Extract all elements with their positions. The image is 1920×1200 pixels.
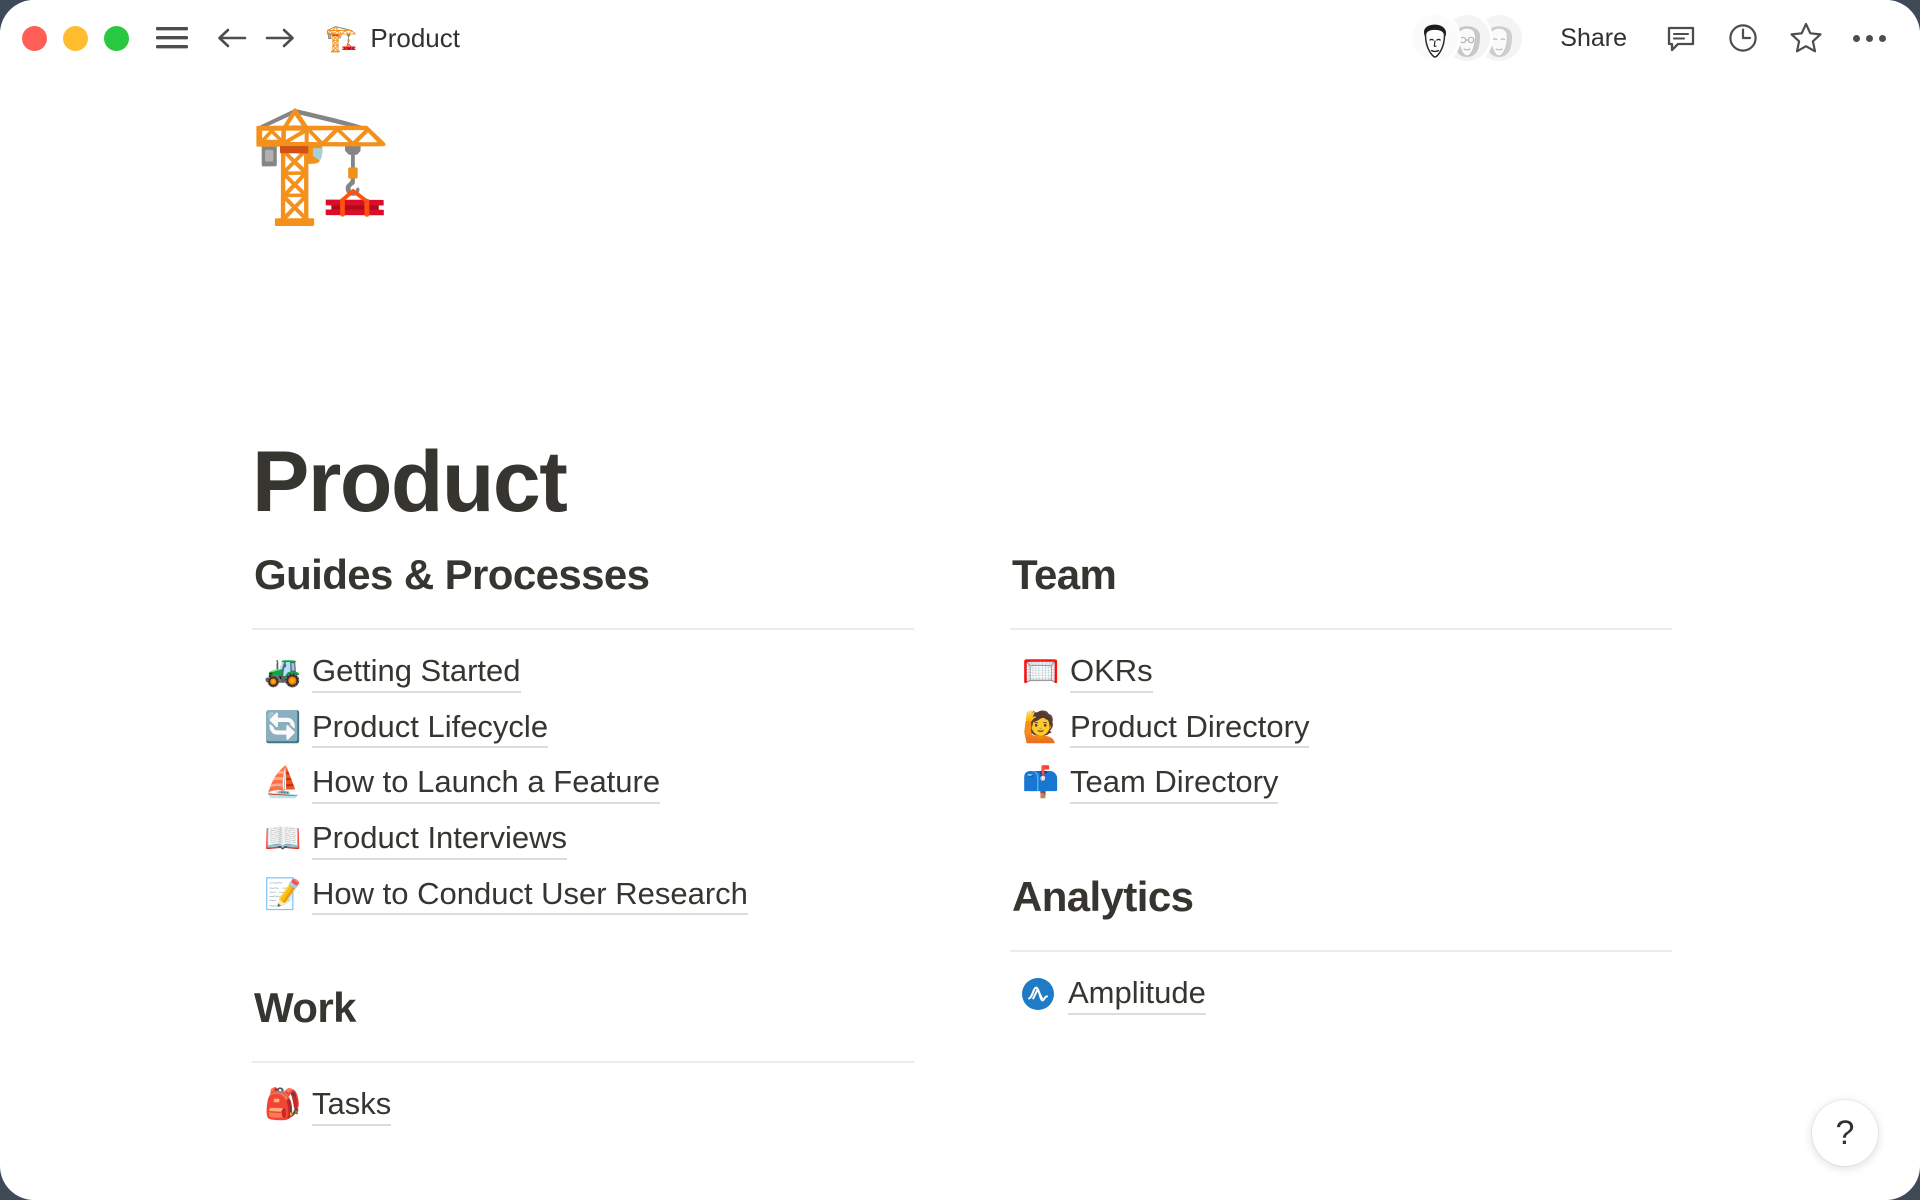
link-product-interviews[interactable]: 📖 Product Interviews: [252, 811, 914, 867]
link-label: Team Directory: [1070, 762, 1278, 804]
backpack-icon: 🎒: [264, 1090, 298, 1120]
tractor-icon: 🚜: [264, 657, 298, 687]
section-divider: [252, 1061, 914, 1063]
share-button[interactable]: Share: [1552, 20, 1635, 57]
help-button[interactable]: ?: [1812, 1100, 1878, 1166]
section-work: Work 🎒 Tasks: [252, 984, 914, 1133]
column-right: Team 🥅 OKRs 🙋 Product Directory 📫 Team D…: [1010, 551, 1672, 1133]
link-label: OKRs: [1070, 651, 1153, 693]
section-analytics: Analytics Amplitude: [1010, 873, 1672, 1022]
minimize-window-button[interactable]: [63, 26, 88, 51]
close-window-button[interactable]: [22, 26, 47, 51]
window-controls: [22, 26, 129, 51]
amplitude-logo-icon: [1022, 978, 1054, 1010]
link-how-to-launch-a-feature[interactable]: ⛵ How to Launch a Feature: [252, 755, 914, 811]
hamburger-icon[interactable]: [155, 25, 189, 51]
goal-net-icon: 🥅: [1022, 657, 1056, 687]
mailbox-icon: 📫: [1022, 768, 1056, 798]
page-content: 🏗️ Product Guides & Processes 🚜 Getting …: [0, 76, 1920, 1200]
breadcrumb-label: Product: [370, 23, 460, 54]
link-label: How to Conduct User Research: [312, 874, 748, 916]
link-getting-started[interactable]: 🚜 Getting Started: [252, 644, 914, 700]
arrow-right-icon[interactable]: [263, 23, 297, 53]
person-raising-hand-icon: 🙋: [1022, 713, 1056, 743]
link-product-directory[interactable]: 🙋 Product Directory: [1010, 700, 1672, 756]
link-how-to-conduct-user-research[interactable]: 📝 How to Conduct User Research: [252, 867, 914, 923]
link-okrs[interactable]: 🥅 OKRs: [1010, 644, 1672, 700]
avatar-group[interactable]: [1412, 15, 1522, 61]
link-label: Product Directory: [1070, 707, 1309, 749]
open-book-icon: 📖: [264, 824, 298, 854]
page-crane-icon[interactable]: 🏗️: [248, 104, 392, 220]
memo-icon: 📝: [264, 880, 298, 910]
section-heading: Analytics: [1010, 873, 1672, 920]
app-window: 🏗️ Product: [0, 0, 1920, 1200]
titlebar: 🏗️ Product: [0, 0, 1920, 76]
section-heading: Work: [252, 984, 914, 1031]
link-label: How to Launch a Feature: [312, 762, 660, 804]
star-icon[interactable]: [1785, 17, 1827, 59]
ellipsis-icon[interactable]: [1849, 31, 1890, 46]
link-tasks[interactable]: 🎒 Tasks: [252, 1077, 914, 1133]
section-heading: Team: [1010, 551, 1672, 598]
link-label: Amplitude: [1068, 973, 1206, 1015]
link-amplitude[interactable]: Amplitude: [1010, 966, 1672, 1022]
link-product-lifecycle[interactable]: 🔄 Product Lifecycle: [252, 700, 914, 756]
comment-icon[interactable]: [1661, 18, 1701, 58]
link-label: Tasks: [312, 1084, 391, 1126]
arrow-left-icon[interactable]: [215, 23, 249, 53]
section-team: Team 🥅 OKRs 🙋 Product Directory 📫 Team D…: [1010, 551, 1672, 811]
section-divider: [1010, 950, 1672, 952]
section-guides-processes: Guides & Processes 🚜 Getting Started 🔄 P…: [252, 551, 914, 922]
content-columns: Guides & Processes 🚜 Getting Started 🔄 P…: [252, 551, 1672, 1133]
link-label: Getting Started: [312, 651, 521, 693]
link-team-directory[interactable]: 📫 Team Directory: [1010, 755, 1672, 811]
clock-icon[interactable]: [1723, 18, 1763, 58]
sailboat-icon: ⛵: [264, 768, 298, 798]
crane-icon: 🏗️: [325, 25, 357, 51]
avatar[interactable]: [1412, 15, 1458, 61]
titlebar-actions: Share: [1412, 15, 1894, 61]
section-divider: [252, 628, 914, 630]
section-heading: Guides & Processes: [252, 551, 914, 598]
page-title[interactable]: Product: [252, 439, 566, 525]
link-label: Product Interviews: [312, 818, 567, 860]
arrows-counterclockwise-icon: 🔄: [264, 713, 298, 743]
link-label: Product Lifecycle: [312, 707, 548, 749]
maximize-window-button[interactable]: [104, 26, 129, 51]
column-left: Guides & Processes 🚜 Getting Started 🔄 P…: [252, 551, 914, 1133]
breadcrumb[interactable]: 🏗️ Product: [325, 23, 460, 54]
section-divider: [1010, 628, 1672, 630]
